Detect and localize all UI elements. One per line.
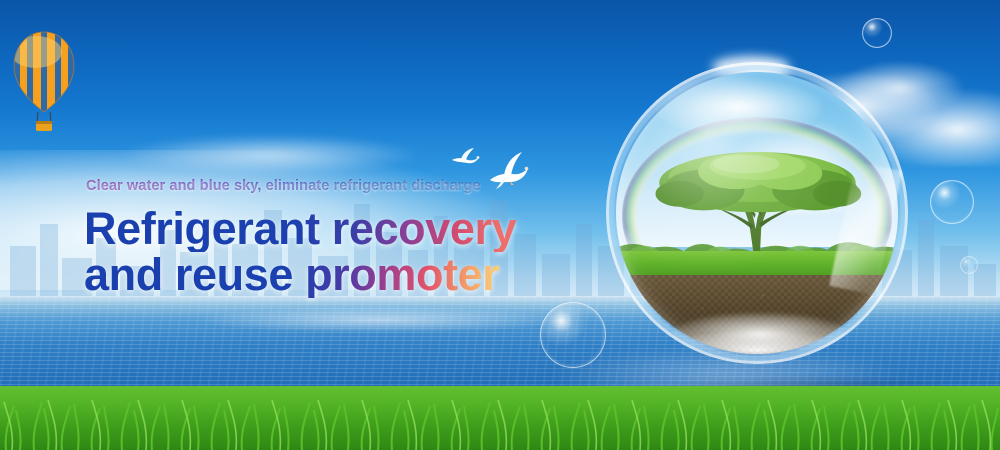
grass-field <box>0 386 1000 450</box>
hero-banner: Clear water and blue sky, eliminate refr… <box>0 0 1000 450</box>
hot-air-balloon-icon <box>8 30 80 142</box>
sphere-rim <box>606 62 908 364</box>
soap-bubble-icon <box>540 302 606 368</box>
glass-sphere <box>606 62 908 364</box>
banner-copy: Clear water and blue sky, eliminate refr… <box>84 178 604 298</box>
soap-bubble-icon <box>960 256 978 274</box>
soap-bubble-icon <box>930 180 974 224</box>
banner-subtitle: Clear water and blue sky, eliminate refr… <box>86 178 604 194</box>
soap-bubble-icon <box>862 18 892 48</box>
banner-headline: Refrigerant recovery and reuse promoter <box>84 206 604 298</box>
dove-icon <box>448 146 482 168</box>
headline-line-1: Refrigerant recovery <box>84 206 604 252</box>
headline-line-2: and reuse promoter <box>84 252 604 298</box>
